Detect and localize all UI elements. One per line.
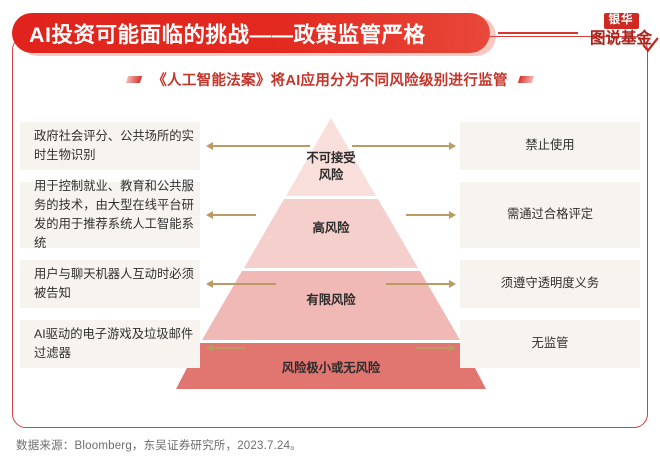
arrow-head bbox=[206, 280, 213, 288]
arrow-shaft bbox=[213, 283, 276, 284]
example-box-tier-2: 用于控制就业、教育和公共服务的技术，由大型在线平台研发的用于推荐系统人工智能系统 bbox=[20, 182, 200, 248]
header-banner: AI投资可能面临的挑战——政策监管严格 bbox=[12, 13, 490, 53]
regulation-box-tier-3: 须遵守透明度义务 bbox=[460, 260, 640, 308]
decorative-dash-left-icon bbox=[126, 76, 142, 83]
arrow-head bbox=[206, 211, 213, 219]
arrow-head bbox=[449, 211, 456, 219]
example-text-tier-1: 政府社会评分、公共场所的实时生物识别 bbox=[34, 127, 194, 165]
arrow-left-tier-2-icon bbox=[206, 210, 256, 220]
pyramid-tier-1-label: 不可接受 风险 bbox=[175, 150, 487, 183]
arrow-left-tier-1-icon bbox=[206, 141, 310, 151]
arrow-head bbox=[206, 142, 213, 150]
brand-badge: 银华 bbox=[604, 13, 639, 29]
example-text-tier-2: 用于控制就业、教育和公共服务的技术，由大型在线平台研发的用于推荐系统人工智能系统 bbox=[34, 177, 194, 253]
source-note: 数据来源：Bloomberg，东吴证券研究所，2023.7.24。 bbox=[16, 437, 302, 453]
risk-pyramid-diagram: 不可接受 风险 高风险 有限风险 风险极小或无风险 政府社会评分、公共场所的实时… bbox=[12, 100, 648, 400]
example-box-tier-4: AI驱动的电子游戏及垃圾邮件过滤器 bbox=[20, 320, 200, 368]
example-text-tier-3: 用户与聊天机器人互动时必须被告知 bbox=[34, 265, 194, 303]
brand-logo: 银华 图说基金 bbox=[586, 10, 656, 52]
brand-name: 图说基金 bbox=[586, 30, 656, 48]
regulation-box-tier-1: 禁止使用 bbox=[460, 122, 640, 170]
check-icon bbox=[642, 37, 659, 54]
arrow-shaft bbox=[213, 347, 246, 348]
arrow-left-tier-3-icon bbox=[206, 279, 276, 289]
pyramid-tier-4-label: 风险极小或无风险 bbox=[175, 358, 487, 376]
arrow-head bbox=[449, 280, 456, 288]
subtitle-text: 《人工智能法案》将AI应用分为不同风险级别进行监管 bbox=[152, 69, 508, 90]
example-box-tier-3: 用户与聊天机器人互动时必须被告知 bbox=[20, 260, 200, 308]
regulation-text-tier-4: 无监管 bbox=[532, 334, 569, 353]
subtitle-row: 《人工智能法案》将AI应用分为不同风险级别进行监管 bbox=[12, 64, 648, 94]
arrow-shaft bbox=[213, 145, 310, 146]
pyramid-tier-3-label: 有限风险 bbox=[175, 290, 487, 308]
header-connector-line bbox=[498, 32, 578, 34]
arrow-shaft bbox=[352, 145, 449, 146]
example-text-tier-4: AI驱动的电子游戏及垃圾邮件过滤器 bbox=[34, 325, 194, 363]
arrow-shaft bbox=[406, 214, 449, 215]
arrow-right-tier-1-icon bbox=[352, 141, 456, 151]
page-title: AI投资可能面临的挑战——政策监管严格 bbox=[29, 18, 426, 49]
arrow-right-tier-3-icon bbox=[386, 279, 456, 289]
arrow-left-tier-4-icon bbox=[206, 343, 246, 353]
regulation-box-tier-4: 无监管 bbox=[460, 320, 640, 368]
arrow-head bbox=[206, 344, 213, 352]
arrow-head bbox=[449, 142, 456, 150]
arrow-shaft bbox=[213, 214, 256, 215]
regulation-text-tier-3: 须遵守透明度义务 bbox=[501, 274, 599, 293]
regulation-text-tier-1: 禁止使用 bbox=[525, 136, 574, 155]
arrow-right-tier-2-icon bbox=[406, 210, 456, 220]
decorative-dash-right-icon bbox=[518, 76, 534, 83]
regulation-box-tier-2: 需通过合格评定 bbox=[460, 182, 640, 248]
arrow-shaft bbox=[416, 347, 449, 348]
arrow-shaft bbox=[386, 283, 449, 284]
pyramid-tier-2-label: 高风险 bbox=[175, 218, 487, 236]
arrow-right-tier-4-icon bbox=[416, 343, 456, 353]
regulation-text-tier-2: 需通过合格评定 bbox=[507, 205, 593, 224]
example-box-tier-1: 政府社会评分、公共场所的实时生物识别 bbox=[20, 122, 200, 170]
arrow-head bbox=[449, 344, 456, 352]
